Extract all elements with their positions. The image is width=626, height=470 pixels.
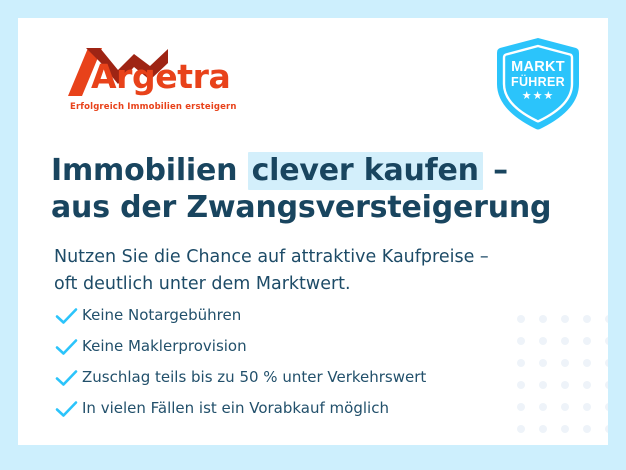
brand-tagline: Erfolgreich Immobilien ersteigern	[70, 102, 237, 112]
decorative-dot	[517, 337, 525, 345]
decorative-dot	[539, 337, 547, 345]
shield-badge-icon	[488, 34, 588, 134]
decorative-dot	[605, 315, 608, 323]
brand-logo: Argetra Erfolgreich Immobilien ersteiger…	[56, 46, 236, 118]
decorative-dot	[517, 403, 525, 411]
decorative-dot	[561, 359, 569, 367]
decorative-dot	[517, 315, 525, 323]
decorative-dot	[517, 359, 525, 367]
decorative-dot	[539, 425, 547, 433]
decorative-dot	[583, 381, 591, 389]
decorative-dot	[561, 425, 569, 433]
list-item: Keine Maklerprovision	[54, 331, 504, 362]
list-item-label: In vielen Fällen ist ein Vorabkauf mögli…	[82, 401, 389, 416]
market-leader-badge: MARKT FÜHRER ★★★	[488, 34, 588, 134]
page-title: Immobilien clever kaufen – aus der Zwang…	[51, 153, 571, 227]
decorative-dot	[561, 381, 569, 389]
check-icon	[54, 368, 82, 388]
list-item: Zuschlag teils bis zu 50 % unter Verkehr…	[54, 362, 504, 393]
decorative-dot	[517, 425, 525, 433]
check-icon	[54, 306, 82, 326]
headline-highlight: clever kaufen	[248, 152, 483, 190]
decorative-dot	[605, 425, 608, 433]
list-item-label: Keine Notargebühren	[82, 308, 241, 323]
decorative-dot	[583, 359, 591, 367]
banner-card: Argetra Erfolgreich Immobilien ersteiger…	[18, 18, 608, 445]
subheading-line-2: oft deutlich unter dem Marktwert.	[54, 271, 574, 298]
dot-pattern-decoration	[517, 315, 608, 445]
decorative-dot	[605, 337, 608, 345]
promo-banner: Argetra Erfolgreich Immobilien ersteiger…	[0, 0, 626, 470]
brand-name: Argetra	[91, 60, 230, 93]
decorative-dot	[583, 403, 591, 411]
decorative-dot	[605, 359, 608, 367]
check-icon	[54, 399, 82, 419]
list-item-label: Keine Maklerprovision	[82, 339, 247, 354]
decorative-dot	[539, 381, 547, 389]
decorative-dot	[583, 425, 591, 433]
headline-pre: Immobilien	[51, 153, 248, 188]
list-item: Keine Notargebühren	[54, 300, 504, 331]
headline-line-2: aus der Zwangsversteigerung	[51, 190, 571, 227]
decorative-dot	[539, 359, 547, 367]
subheading: Nutzen Sie die Chance auf attraktive Kau…	[54, 244, 574, 299]
headline-line-1: Immobilien clever kaufen –	[51, 153, 571, 190]
check-icon	[54, 337, 82, 357]
decorative-dot	[605, 381, 608, 389]
decorative-dot	[561, 337, 569, 345]
decorative-dot	[561, 403, 569, 411]
decorative-dot	[605, 403, 608, 411]
decorative-dot	[517, 381, 525, 389]
subheading-line-1: Nutzen Sie die Chance auf attraktive Kau…	[54, 244, 574, 271]
headline-post: –	[483, 153, 508, 188]
list-item-label: Zuschlag teils bis zu 50 % unter Verkehr…	[82, 370, 426, 385]
decorative-dot	[583, 315, 591, 323]
decorative-dot	[583, 337, 591, 345]
decorative-dot	[561, 315, 569, 323]
benefits-checklist: Keine NotargebührenKeine Maklerprovision…	[54, 300, 504, 424]
decorative-dot	[539, 315, 547, 323]
decorative-dot	[539, 403, 547, 411]
list-item: In vielen Fällen ist ein Vorabkauf mögli…	[54, 393, 504, 424]
